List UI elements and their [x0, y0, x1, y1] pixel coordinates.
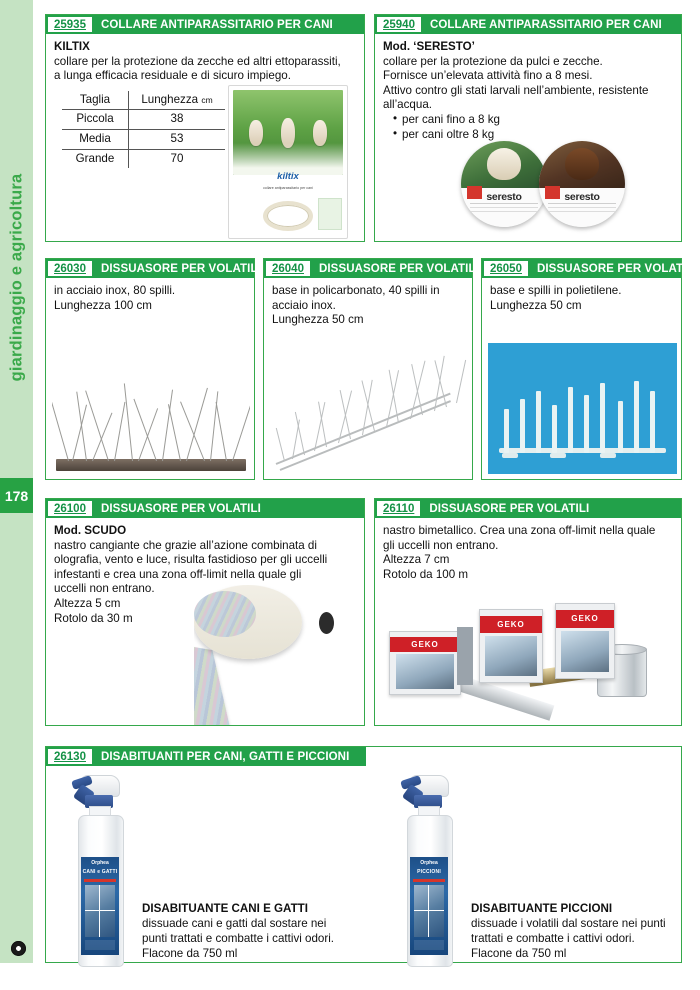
- table-cell-size: Grande: [62, 149, 129, 168]
- product-code: 25940: [377, 17, 421, 32]
- description-line: gli uccelli non entrano.: [383, 539, 675, 554]
- geko-brand-text: GEKO: [556, 610, 614, 628]
- panel-header: 26050 DISSUASORE PER VOLATILI: [482, 259, 681, 278]
- description-line: trattati e combatte i cattivi odori.: [471, 931, 681, 946]
- panel-body: Mod. ‘SERESTO’ collare per la protezione…: [383, 40, 675, 142]
- roll-core-hole: [319, 612, 334, 634]
- label-accent-bar: [413, 879, 445, 882]
- product-caption-piccioni: DISABITUANTE PICCIONI dissuade i volatil…: [471, 901, 681, 961]
- product-code: 26100: [48, 501, 92, 516]
- catalog-page: giardinaggio e agricoltura 178 25935 COL…: [0, 0, 700, 990]
- table-header-cell: Lunghezza cm: [129, 91, 226, 110]
- spike-blade: [536, 391, 541, 453]
- spike-blade: [552, 405, 557, 453]
- panel-title: DISSUASORE PER VOLATILI: [101, 503, 261, 515]
- box-artwork: [485, 636, 537, 676]
- table-cell-size: Piccola: [62, 110, 129, 130]
- description-line: Rotolo da 100 m: [383, 568, 675, 583]
- kiltix-photo: [233, 90, 343, 175]
- description-line: collare per la protezione da pulci e zec…: [383, 55, 675, 70]
- spike-blade: [618, 401, 623, 453]
- dog-photo: [487, 148, 521, 180]
- collar-photo: [539, 141, 625, 188]
- dog-figure: [249, 120, 263, 146]
- collar-ring-icon: [263, 201, 313, 231]
- product-panel-26030: 26030 DISSUASORE PER VOLATILI in acciaio…: [45, 258, 255, 480]
- spike-pin: [124, 383, 133, 461]
- product-name: DISABITUANTE CANI E GATTI: [142, 901, 347, 916]
- sidebar-category-label: giardinaggio e agricoltura: [8, 28, 27, 528]
- spike-blade: [568, 387, 573, 453]
- product-code: 26040: [266, 261, 310, 276]
- bullet-item: per cani fino a 8 kg: [393, 113, 675, 128]
- seresto-logo-text: seresto: [461, 191, 547, 203]
- product-panel-26130: 26130 DISABITUANTI PER CANI, GATTI E PIC…: [45, 746, 682, 963]
- description-line: Lunghezza 50 cm: [272, 313, 466, 328]
- spike-blade: [504, 409, 509, 453]
- table-row: Piccola 38: [62, 110, 225, 130]
- description-line: Altezza 7 cm: [383, 553, 675, 568]
- spike-pin: [168, 404, 181, 461]
- panel-header: 26100 DISSUASORE PER VOLATILI: [46, 499, 364, 518]
- product-panel-26110: 26110 DISSUASORE PER VOLATILI nastro bim…: [374, 498, 682, 726]
- dog-figure: [281, 118, 295, 148]
- panel-header: 25935 COLLARE ANTIPARASSITARIO PER CANI: [46, 15, 364, 34]
- description-line: punti trattati e combatte i cattivi odor…: [142, 931, 347, 946]
- description-line: nastro cangiante che grazie all’azione c…: [54, 539, 358, 554]
- panel-body: base in policarbonato, 40 spilli in acci…: [272, 284, 466, 328]
- panel-title: COLLARE ANTIPARASSITARIO PER CANI: [101, 19, 333, 31]
- panel-title: DISSUASORE PER VOLATILI: [429, 503, 589, 515]
- product-code: 26110: [377, 501, 420, 516]
- product-image-spray-cani-gatti: Orphea CANI e GATTI: [72, 775, 132, 967]
- product-panel-25940: 25940 COLLARE ANTIPARASSITARIO PER CANI …: [374, 14, 682, 242]
- geko-box-side: [457, 627, 473, 685]
- product-image-pe-spikes: [488, 343, 677, 474]
- description-line: base e spilli in polietilene.: [490, 284, 675, 299]
- product-name: DISABITUANTE PICCIONI: [471, 901, 681, 916]
- product-image-seresto: seresto seresto: [453, 137, 643, 237]
- seresto-collar-small: seresto: [461, 141, 547, 227]
- product-panel-26050: 26050 DISSUASORE PER VOLATILI base e spi…: [481, 258, 682, 480]
- panel-body: in acciaio inox, 80 spilli. Lunghezza 10…: [54, 284, 248, 313]
- spike-blade: [520, 399, 525, 453]
- collar-fineprint: [548, 203, 617, 205]
- description-line: Flacone da 750 ml: [471, 946, 681, 961]
- spike-pin: [210, 391, 218, 461]
- description-line: in acciaio inox, 80 spilli.: [54, 284, 248, 299]
- panel-body: base e spilli in polietilene. Lunghezza …: [490, 284, 675, 313]
- spike-pin: [162, 390, 173, 461]
- description-line: a lunga efficacia residuale e di sicuro …: [54, 69, 358, 84]
- table-cell-size: Media: [62, 129, 129, 149]
- seresto-logo-text: seresto: [539, 191, 625, 203]
- panel-body: nastro bimetallico. Crea una zona off-li…: [383, 524, 675, 582]
- collar-photo: [461, 141, 547, 188]
- product-name: KILTIX: [54, 40, 358, 55]
- spike-pin: [276, 428, 285, 461]
- product-image-kiltix: kiltix collare antiparassitario per cani: [228, 85, 348, 239]
- label-brand-text: Orphea: [81, 860, 119, 866]
- table-cell-length: 70: [129, 149, 226, 168]
- panel-title: DISSUASORE PER VOLATILI: [319, 263, 479, 275]
- box-artwork: [561, 631, 610, 672]
- product-image-poly-spikes: [270, 345, 470, 477]
- geko-brand-text: GEKO: [480, 616, 542, 633]
- table-cell-length: 53: [129, 129, 226, 149]
- sidebar: giardinaggio e agricoltura 178: [0, 0, 33, 963]
- product-image-spray-piccioni: Orphea PICCIONI: [401, 775, 461, 967]
- description-line: infestanti e crea una zona off-limit nel…: [54, 568, 358, 583]
- spike-foot: [600, 453, 616, 458]
- leaf-badge-icon: [318, 198, 342, 230]
- panel-header: 26040 DISSUASORE PER VOLATILI: [264, 259, 472, 278]
- description-line: acciaio inox.: [272, 299, 466, 314]
- description-line: dissuade i volatili dal sostare nei punt…: [471, 916, 681, 931]
- product-name: Mod. ‘SERESTO’: [383, 40, 675, 55]
- spike-pin: [456, 360, 466, 403]
- spike-blade: [584, 395, 589, 453]
- description-line: Lunghezza 100 cm: [54, 299, 248, 314]
- description-line: Fornisce un’elevata attività fino a 8 me…: [383, 69, 675, 84]
- circle-c-logo-icon: [11, 941, 26, 956]
- description-line: collare per la protezione da zecche ed a…: [54, 55, 358, 70]
- holographic-surface: [194, 591, 256, 637]
- table-header-text: Lunghezza: [141, 93, 198, 106]
- panel-header: 26130 DISABITUANTI PER CANI, GATTI E PIC…: [46, 747, 366, 766]
- panel-header: 25940 COLLARE ANTIPARASSITARIO PER CANI: [375, 15, 681, 34]
- label-artwork: [85, 885, 115, 937]
- spike-blade: [600, 383, 605, 453]
- seresto-collar-large: seresto: [539, 141, 625, 227]
- spike-pin: [52, 401, 69, 461]
- spike-foot: [502, 453, 518, 458]
- spike-blade: [634, 381, 639, 453]
- product-panel-26040: 26040 DISSUASORE PER VOLATILI base in po…: [263, 258, 473, 480]
- spike-base-bar: [56, 459, 246, 471]
- table-header-cell: Taglia: [62, 91, 129, 110]
- geko-brand-text: GEKO: [390, 637, 460, 652]
- geko-box: GEKO: [555, 603, 615, 679]
- table-header-row: Taglia Lunghezza cm: [62, 91, 225, 110]
- label-accent-bar: [84, 879, 116, 882]
- description-line: all’acqua.: [383, 98, 675, 113]
- kiltix-subtitle-text: collare antiparassitario per cani: [229, 186, 347, 190]
- product-code: 26130: [48, 749, 92, 764]
- bottle-label: Orphea PICCIONI: [410, 857, 448, 955]
- table-row: Grande 70: [62, 149, 225, 168]
- label-brand-text: Orphea: [410, 860, 448, 866]
- size-table: Taglia Lunghezza cm Piccola 38 Media 53 …: [62, 91, 225, 168]
- page-number-badge: 178: [0, 478, 33, 513]
- spike-pin: [76, 392, 87, 461]
- label-artwork: [414, 885, 444, 937]
- description-line: nastro bimetallico. Crea una zona off-li…: [383, 524, 675, 539]
- panel-title: DISABITUANTI PER CANI, GATTI E PICCIONI: [101, 751, 349, 763]
- table-row: Media 53: [62, 129, 225, 149]
- description-line: dissuade cani e gatti dal sostare nei: [142, 916, 347, 931]
- panel-title: DISSUASORE PER VOLATILI: [537, 263, 697, 275]
- panel-title: COLLARE ANTIPARASSITARIO PER CANI: [430, 19, 662, 31]
- spike-blade: [650, 391, 655, 453]
- bottle-label: Orphea CANI e GATTI: [81, 857, 119, 955]
- dog-photo: [565, 148, 599, 180]
- table-cell-length: 38: [129, 110, 226, 130]
- product-code: 26030: [48, 261, 92, 276]
- geko-box: GEKO: [479, 609, 543, 683]
- product-panel-25935: 25935 COLLARE ANTIPARASSITARIO PER CANI …: [45, 14, 365, 242]
- product-panel-26100: 26100 DISSUASORE PER VOLATILI Mod. SCUDO…: [45, 498, 365, 726]
- collar-fineprint: [470, 203, 539, 205]
- panel-title: DISSUASORE PER VOLATILI: [101, 263, 261, 275]
- geko-box: GEKO: [389, 631, 461, 695]
- description-line: Attivo contro gli stati larvali nell’amb…: [383, 84, 675, 99]
- dog-figure: [313, 120, 327, 146]
- product-image-tape-roll: [194, 585, 354, 725]
- panel-header: 26030 DISSUASORE PER VOLATILI: [46, 259, 254, 278]
- box-artwork: [396, 654, 455, 689]
- description-line: Lunghezza 50 cm: [490, 299, 675, 314]
- spike-pin: [216, 402, 227, 461]
- spike-pin: [133, 399, 157, 461]
- description-line: olografia, vento e luce, risulta fastidi…: [54, 553, 358, 568]
- table-header-unit: cm: [201, 95, 212, 105]
- product-image-steel-spikes: [52, 359, 250, 477]
- kiltix-brand-text: kiltix: [229, 171, 347, 182]
- product-image-geko-boxes: GEKO GEKO GEKO: [379, 587, 679, 721]
- description-line: Flacone da 750 ml: [142, 946, 347, 961]
- product-code: 26050: [484, 261, 528, 276]
- label-title-text: PICCIONI: [410, 869, 448, 875]
- label-footer: [414, 940, 444, 950]
- spike-foot: [550, 453, 566, 458]
- spike-pin: [114, 402, 125, 461]
- spike-pin: [232, 390, 250, 461]
- label-footer: [85, 940, 115, 950]
- panel-header: 26110 DISSUASORE PER VOLATILI: [375, 499, 681, 518]
- product-caption-cani-gatti: DISABITUANTE CANI E GATTI dissuade cani …: [142, 901, 347, 961]
- description-line: base in policarbonato, 40 spilli in: [272, 284, 466, 299]
- product-name: Mod. SCUDO: [54, 524, 358, 539]
- product-code: 25935: [48, 17, 92, 32]
- label-title-text: CANI e GATTI: [81, 869, 119, 875]
